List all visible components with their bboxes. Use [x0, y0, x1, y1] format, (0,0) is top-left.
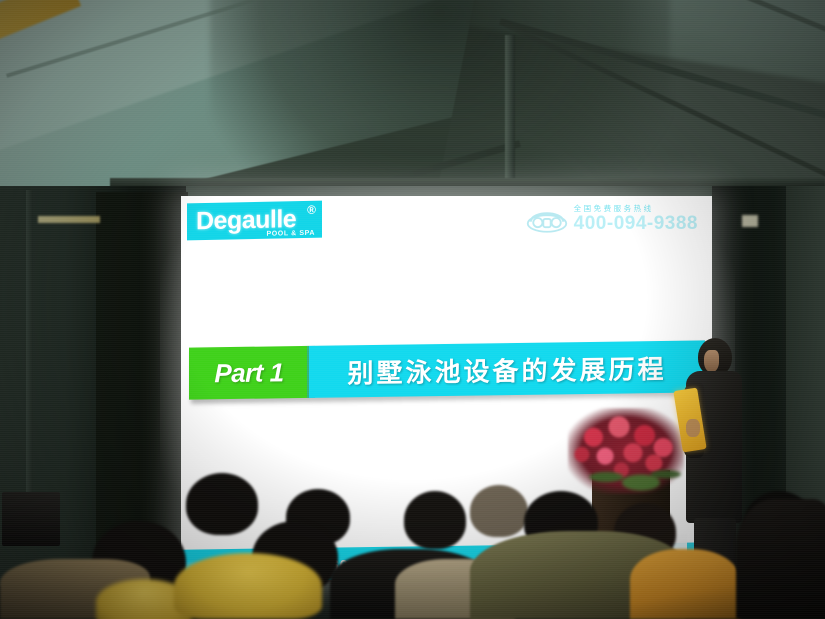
hotline-block: 全国免费服务热线 400-094-9388	[525, 203, 698, 233]
photo-scene: Degaulle ® POOL & SPA 全国免费服务热线 400-094-9…	[0, 0, 825, 619]
brand-logo: Degaulle ® POOL & SPA	[187, 201, 322, 241]
part-number-label: Part 1	[214, 357, 283, 389]
audience-head-1	[186, 473, 258, 535]
audience	[0, 459, 825, 619]
brand-tagline: POOL & SPA	[266, 230, 315, 238]
telephone-icon	[525, 203, 569, 233]
audience-fur-collar	[174, 553, 322, 619]
presenter-hand	[686, 419, 700, 437]
gable-shadow	[210, 0, 670, 205]
section-title-banner: 别墅泳池设备的发展历程	[309, 340, 705, 398]
tube-light-right	[742, 215, 758, 227]
presenter-arm	[684, 383, 704, 458]
presenter-face	[704, 350, 719, 372]
section-banner: Part 1 别墅泳池设备的发展历程	[189, 340, 705, 399]
audience-coat-orange	[630, 549, 740, 619]
tube-light-left	[38, 216, 100, 223]
audience-head-4-bald	[470, 485, 528, 537]
part-number-badge: Part 1	[189, 346, 309, 400]
registered-trademark-icon: ®	[307, 203, 316, 217]
audience-head-3	[404, 491, 466, 549]
hotline-number: 400-094-9388	[574, 214, 698, 233]
section-title-text: 别墅泳池设备的发展历程	[347, 348, 666, 389]
audience-coat-dark-right	[736, 499, 825, 619]
tent-ceiling	[0, 0, 825, 205]
